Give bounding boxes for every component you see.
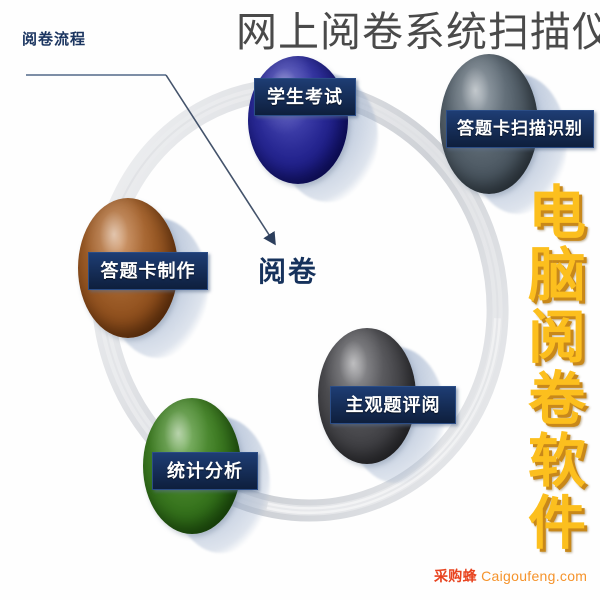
watermark-cn: 采购蜂 xyxy=(434,568,477,584)
process-caption: 阅卷流程 xyxy=(22,28,86,49)
site-watermark: 采购蜂 Caigoufeng.com xyxy=(434,566,587,586)
headline-char: 阅 xyxy=(520,306,594,368)
marking-label: 阅卷 xyxy=(258,250,318,290)
headline-char: 软 xyxy=(520,430,594,492)
page-title: 网上阅卷系统扫描仪 xyxy=(236,0,600,58)
vertical-headline: 电脑阅卷软件 xyxy=(520,182,594,554)
node-label-statistical-analysis: 统计分析 xyxy=(152,452,258,490)
node-label-answer-sheet-production: 答题卡制作 xyxy=(88,252,208,290)
diagram-canvas: 网上阅卷系统扫描仪 阅卷流程 阅卷 电脑阅卷软件 采购蜂 Caigoufeng.… xyxy=(0,0,600,600)
watermark-en: Caigoufeng.com xyxy=(481,568,587,584)
headline-char: 卷 xyxy=(520,368,594,430)
flow-node-student-exam[interactable] xyxy=(248,56,348,184)
node-ellipse xyxy=(248,56,348,184)
headline-char: 脑 xyxy=(520,244,594,306)
node-label-student-exam: 学生考试 xyxy=(254,78,356,116)
headline-char: 件 xyxy=(520,492,594,554)
headline-char: 电 xyxy=(520,182,594,244)
caption-underline xyxy=(26,74,166,76)
node-label-answer-sheet-scan-recognition: 答题卡扫描识别 xyxy=(446,110,594,148)
node-label-subjective-question-review: 主观题评阅 xyxy=(330,386,456,424)
